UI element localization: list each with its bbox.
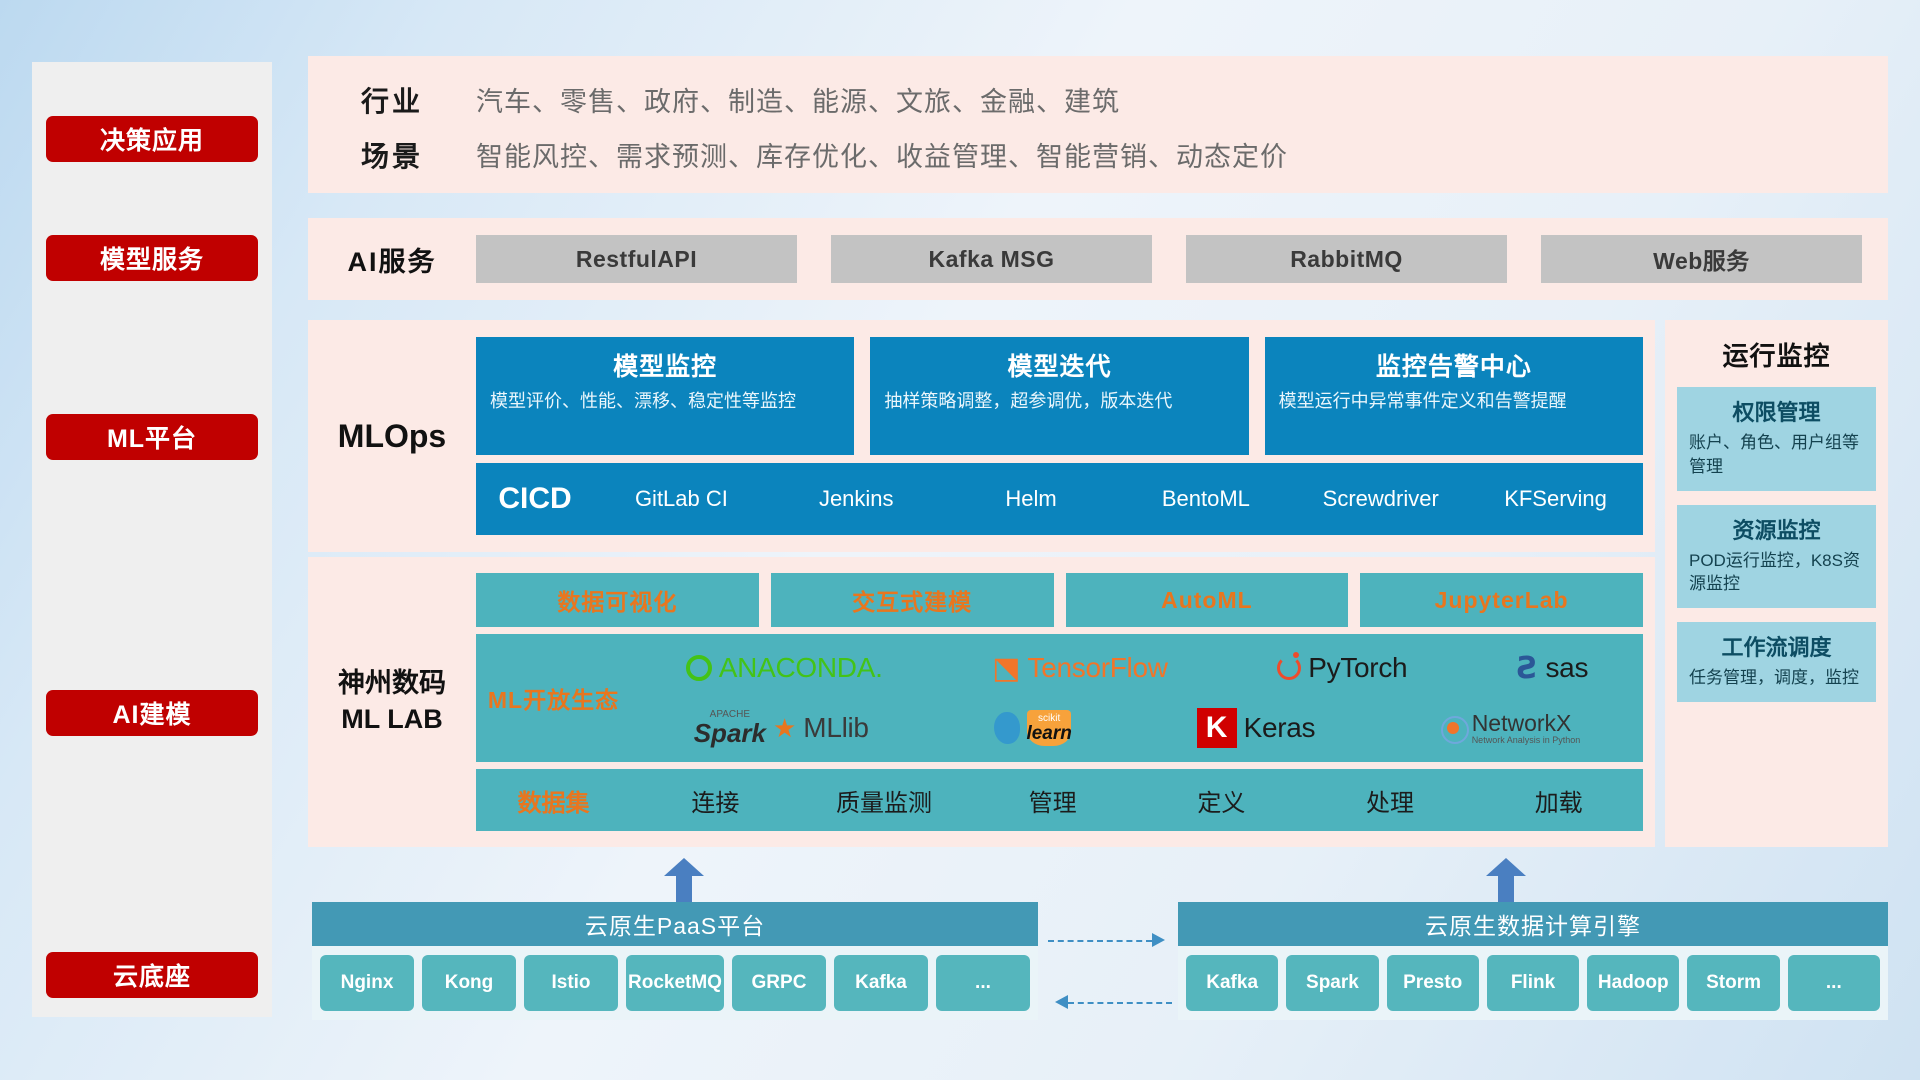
layer-rail: 决策应用 模型服务 ML平台 AI建模 云底座 xyxy=(32,62,272,1017)
dataset-item-quality[interactable]: 质量监测 xyxy=(800,783,969,818)
ml-lab-band: 神州数码 ML LAB 数据可视化 交互式建模 AutoML JupyterLa… xyxy=(308,557,1655,847)
dataset-item-load[interactable]: 加载 xyxy=(1474,783,1643,818)
anaconda-ring-icon xyxy=(686,655,712,681)
mlops-card-model-monitoring[interactable]: 模型监控 模型评价、性能、漂移、稳定性等监控 xyxy=(476,337,854,455)
paas-tile-more[interactable]: ... xyxy=(936,955,1030,1011)
paas-tiles: Nginx Kong Istio RocketMQ GRPC Kafka ... xyxy=(312,946,1038,1020)
engine-up-arrow-icon xyxy=(1486,858,1526,902)
networkx-wordmark: NetworkX Network Analysis in Python xyxy=(1472,711,1581,744)
cicd-tool-gitlab[interactable]: GitLab CI xyxy=(594,487,769,512)
networkx-sublabel: Network Analysis in Python xyxy=(1472,736,1581,745)
paas-tile-nginx[interactable]: Nginx xyxy=(320,955,414,1011)
scenario-items: 智能风控、需求预测、库存优化、收益管理、智能营销、动态定价 xyxy=(476,135,1288,174)
mlops-band: MLOps 模型监控 模型评价、性能、漂移、稳定性等监控 模型迭代 抽样策略调整… xyxy=(308,320,1655,552)
dashed-arrow-right xyxy=(1048,940,1152,942)
ai-service-button-web[interactable]: Web服务 xyxy=(1541,235,1862,283)
ai-service-button-restfulapi[interactable]: RestfulAPI xyxy=(476,235,797,283)
paas-tile-istio[interactable]: Istio xyxy=(524,955,618,1011)
cicd-tool-screwdriver[interactable]: Screwdriver xyxy=(1293,487,1468,512)
cicd-label: CICD xyxy=(476,482,594,516)
ai-service-button-kafka-msg[interactable]: Kafka MSG xyxy=(831,235,1152,283)
ml-lab-chip-data-viz[interactable]: 数据可视化 xyxy=(476,573,759,627)
paas-tile-grpc[interactable]: GRPC xyxy=(732,955,826,1011)
paas-tile-kafka[interactable]: Kafka xyxy=(834,955,928,1011)
networkx-logo: NetworkX Network Analysis in Python xyxy=(1441,711,1581,744)
arrow-left-icon xyxy=(1055,995,1068,1009)
ai-service-button-rabbitmq[interactable]: RabbitMQ xyxy=(1186,235,1507,283)
industry-label: 行业 xyxy=(308,80,476,120)
engine-title: 云原生数据计算引擎 xyxy=(1178,902,1888,946)
paas-up-arrow-icon xyxy=(664,858,704,902)
arrow-right-icon xyxy=(1152,933,1165,947)
spark-star-icon: ★ xyxy=(773,713,796,744)
sas-swirl-icon: Ꙅ xyxy=(1517,651,1539,686)
data-engine-box: 云原生数据计算引擎 Kafka Spark Presto Flink Hadoo… xyxy=(1178,902,1888,1020)
spark-mllib-logo: APACHE Spark ★ MLlib xyxy=(694,710,869,746)
dashed-arrow-left xyxy=(1068,1002,1172,1004)
ai-service-buttons: RestfulAPI Kafka MSG RabbitMQ Web服务 xyxy=(476,235,1888,283)
pytorch-label: PyTorch xyxy=(1308,652,1407,684)
networkx-graph-icon xyxy=(1441,716,1465,740)
dataset-item-manage[interactable]: 管理 xyxy=(968,783,1137,818)
ecosystem-logo-row-2: APACHE Spark ★ MLlib xyxy=(631,700,1643,756)
ml-lab-chip-interactive-modeling[interactable]: 交互式建模 xyxy=(771,573,1054,627)
cicd-row: CICD GitLab CI Jenkins Helm BentoML Scre… xyxy=(476,463,1643,535)
ai-service-label: AI服务 xyxy=(308,240,476,279)
mllib-label: MLlib xyxy=(803,712,868,744)
cicd-tool-bentoml[interactable]: BentoML xyxy=(1118,487,1293,512)
ml-lab-chip-jupyterlab[interactable]: JupyterLab xyxy=(1360,573,1643,627)
ml-ecosystem-label: ML开放生态 xyxy=(476,681,631,715)
mlops-card-title: 模型迭代 xyxy=(884,347,1234,383)
spark-wordmark: APACHE Spark xyxy=(694,710,766,746)
industry-items: 汽车、零售、政府、制造、能源、文旅、金融、建筑 xyxy=(476,80,1120,119)
ml-lab-label-line2: ML LAB xyxy=(308,702,476,738)
ml-ecosystem-row: ML开放生态 ANACONDA. ⬔ TensorFlow xyxy=(476,634,1643,762)
spark-label: Spark xyxy=(694,720,766,746)
scenario-label: 场景 xyxy=(308,135,476,175)
scikit-learn-logo: scikit learn xyxy=(994,710,1071,746)
paas-title: 云原生PaaS平台 xyxy=(312,902,1038,946)
layer-chip-cloud-base[interactable]: 云底座 xyxy=(46,952,258,998)
architecture-diagram: 决策应用 模型服务 ML平台 AI建模 云底座 行业 汽车、零售、政府、制造、能… xyxy=(0,0,1920,1080)
monitoring-card-resources[interactable]: 资源监控 POD运行监控，K8S资源监控 xyxy=(1677,505,1876,609)
ml-lab-label: 神州数码 ML LAB xyxy=(308,666,476,737)
mlops-card-desc: 抽样策略调整，超参调优，版本迭代 xyxy=(884,389,1234,415)
runtime-monitoring-column: 运行监控 权限管理 账户、角色、用户组等管理 资源监控 POD运行监控，K8S资… xyxy=(1665,320,1888,847)
engine-tile-hadoop[interactable]: Hadoop xyxy=(1587,955,1679,1011)
layer-chip-decision[interactable]: 决策应用 xyxy=(46,116,258,162)
monitoring-card-workflow[interactable]: 工作流调度 任务管理，调度，监控 xyxy=(1677,622,1876,702)
ml-lab-chips: 数据可视化 交互式建模 AutoML JupyterLab xyxy=(476,573,1643,627)
dataset-item-define[interactable]: 定义 xyxy=(1137,783,1306,818)
main-column: 行业 汽车、零售、政府、制造、能源、文旅、金融、建筑 场景 智能风控、需求预测、… xyxy=(308,0,1888,1080)
bidirectional-link xyxy=(1048,930,1174,1030)
scikit-blob-icon xyxy=(994,712,1020,744)
dataset-item-connect[interactable]: 连接 xyxy=(631,783,800,818)
mlops-label: MLOps xyxy=(308,418,476,455)
cicd-tool-helm[interactable]: Helm xyxy=(944,487,1119,512)
tensorflow-mark-icon: ⬔ xyxy=(992,651,1020,686)
monitoring-card-desc: 任务管理，调度，监控 xyxy=(1689,666,1864,690)
monitoring-card-permissions[interactable]: 权限管理 账户、角色、用户组等管理 xyxy=(1677,387,1876,491)
pytorch-logo: PyTorch xyxy=(1277,652,1407,684)
ml-lab-chip-automl[interactable]: AutoML xyxy=(1066,573,1349,627)
layer-chip-model-service[interactable]: 模型服务 xyxy=(46,235,258,281)
cicd-tools: GitLab CI Jenkins Helm BentoML Screwdriv… xyxy=(594,487,1643,512)
mlops-card-desc: 模型运行中异常事件定义和告警提醒 xyxy=(1279,389,1629,415)
monitoring-card-desc: 账户、角色、用户组等管理 xyxy=(1689,431,1864,479)
scikit-learn-mark: scikit learn xyxy=(1027,710,1071,746)
engine-tile-flink[interactable]: Flink xyxy=(1487,955,1579,1011)
engine-tile-more[interactable]: ... xyxy=(1788,955,1880,1011)
monitoring-card-desc: POD运行监控，K8S资源监控 xyxy=(1689,549,1864,597)
pytorch-flame-icon xyxy=(1277,656,1301,680)
dataset-items: 连接 质量监测 管理 定义 处理 加载 xyxy=(631,783,1643,818)
paas-platform-box: 云原生PaaS平台 Nginx Kong Istio RocketMQ GRPC… xyxy=(312,902,1038,1020)
dataset-item-process[interactable]: 处理 xyxy=(1306,783,1475,818)
layer-chip-ai-modeling[interactable]: AI建模 xyxy=(46,690,258,736)
sas-label: sas xyxy=(1545,652,1588,684)
mlops-card-alert-center[interactable]: 监控告警中心 模型运行中异常事件定义和告警提醒 xyxy=(1265,337,1643,455)
anaconda-logo: ANACONDA. xyxy=(686,652,883,684)
learn-label: learn xyxy=(1026,724,1071,743)
tensorflow-label: TensorFlow xyxy=(1028,652,1168,684)
runtime-monitoring-title: 运行监控 xyxy=(1665,320,1888,373)
ecosystem-logo-row-1: ANACONDA. ⬔ TensorFlow PyTorch xyxy=(631,640,1643,696)
scikit-label: scikit xyxy=(1038,714,1060,724)
engine-tile-storm[interactable]: Storm xyxy=(1687,955,1779,1011)
scenario-row: 场景 智能风控、需求预测、库存优化、收益管理、智能营销、动态定价 xyxy=(308,127,1888,182)
ai-service-band: AI服务 RestfulAPI Kafka MSG RabbitMQ Web服务 xyxy=(308,218,1888,300)
engine-tile-kafka[interactable]: Kafka xyxy=(1186,955,1278,1011)
industry-row: 行业 汽车、零售、政府、制造、能源、文旅、金融、建筑 xyxy=(308,72,1888,127)
paas-tile-kong[interactable]: Kong xyxy=(422,955,516,1011)
business-band: 行业 汽车、零售、政府、制造、能源、文旅、金融、建筑 场景 智能风控、需求预测、… xyxy=(308,56,1888,193)
engine-tiles: Kafka Spark Presto Flink Hadoop Storm ..… xyxy=(1178,946,1888,1020)
dataset-label: 数据集 xyxy=(476,783,631,818)
sas-logo: Ꙅ sas xyxy=(1517,651,1588,686)
mlops-card-model-iteration[interactable]: 模型迭代 抽样策略调整，超参调优，版本迭代 xyxy=(870,337,1248,455)
keras-label: Keras xyxy=(1244,712,1316,744)
monitoring-card-title: 工作流调度 xyxy=(1689,630,1864,662)
dataset-row: 数据集 连接 质量监测 管理 定义 处理 加载 xyxy=(476,769,1643,831)
cicd-tool-jenkins[interactable]: Jenkins xyxy=(769,487,944,512)
cicd-tool-kfserving[interactable]: KFServing xyxy=(1468,487,1643,512)
mlops-cards: 模型监控 模型评价、性能、漂移、稳定性等监控 模型迭代 抽样策略调整，超参调优，… xyxy=(476,337,1643,455)
mlops-card-title: 模型监控 xyxy=(490,347,840,383)
monitoring-card-title: 资源监控 xyxy=(1689,513,1864,545)
engine-tile-spark[interactable]: Spark xyxy=(1286,955,1378,1011)
layer-chip-ml-platform[interactable]: ML平台 xyxy=(46,414,258,460)
engine-tile-presto[interactable]: Presto xyxy=(1387,955,1479,1011)
networkx-label: NetworkX xyxy=(1472,711,1581,735)
monitoring-card-title: 权限管理 xyxy=(1689,395,1864,427)
ml-lab-label-line1: 神州数码 xyxy=(308,666,476,702)
paas-tile-rocketmq[interactable]: RocketMQ xyxy=(626,955,724,1011)
keras-logo: K Keras xyxy=(1197,708,1316,748)
mlops-card-desc: 模型评价、性能、漂移、稳定性等监控 xyxy=(490,389,840,415)
anaconda-label: ANACONDA. xyxy=(719,652,883,684)
tensorflow-logo: ⬔ TensorFlow xyxy=(992,651,1168,686)
mlops-card-title: 监控告警中心 xyxy=(1279,347,1629,383)
keras-k-icon: K xyxy=(1197,708,1237,748)
